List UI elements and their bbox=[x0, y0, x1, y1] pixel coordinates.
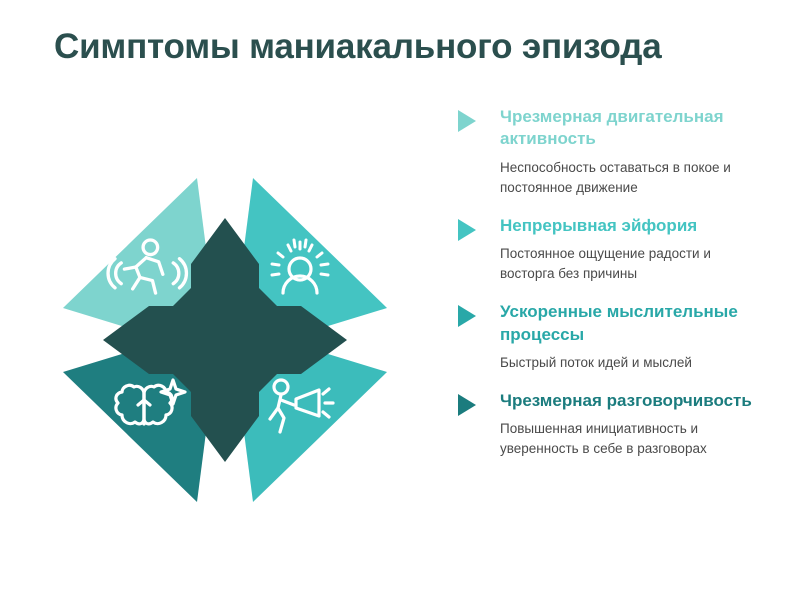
symptom-item-4: Чрезмерная разговорчивость Повышенная ин… bbox=[458, 390, 758, 459]
symptom-item-3: Ускоренные мыслительные процессы Быстрый… bbox=[458, 301, 758, 373]
symptom-heading: Чрезмерная разговорчивость bbox=[500, 390, 758, 412]
symptom-list: Чрезмерная двигательная активность Неспо… bbox=[458, 106, 758, 476]
symptom-heading: Чрезмерная двигательная активность bbox=[500, 106, 758, 151]
bullet-arrow-icon bbox=[458, 394, 476, 416]
bullet-arrow-icon bbox=[458, 219, 476, 241]
bullet-arrow-icon bbox=[458, 305, 476, 327]
symptom-diagram bbox=[45, 160, 405, 520]
symptom-description: Быстрый поток идей и мыслей bbox=[500, 353, 758, 373]
page-title: Симптомы маниакального эпизода bbox=[54, 27, 662, 67]
bullet-arrow-icon bbox=[458, 110, 476, 132]
symptom-description: Повышенная инициативность и уверенность … bbox=[500, 419, 758, 459]
symptom-heading: Непрерывная эйфория bbox=[500, 215, 758, 237]
symptom-description: Постоянное ощущение радости и восторга б… bbox=[500, 244, 758, 284]
symptom-item-1: Чрезмерная двигательная активность Неспо… bbox=[458, 106, 758, 198]
symptom-description: Неспособность оставаться в покое и посто… bbox=[500, 158, 758, 198]
symptom-heading: Ускоренные мыслительные процессы bbox=[500, 301, 758, 346]
symptom-item-2: Непрерывная эйфория Постоянное ощущение … bbox=[458, 215, 758, 284]
